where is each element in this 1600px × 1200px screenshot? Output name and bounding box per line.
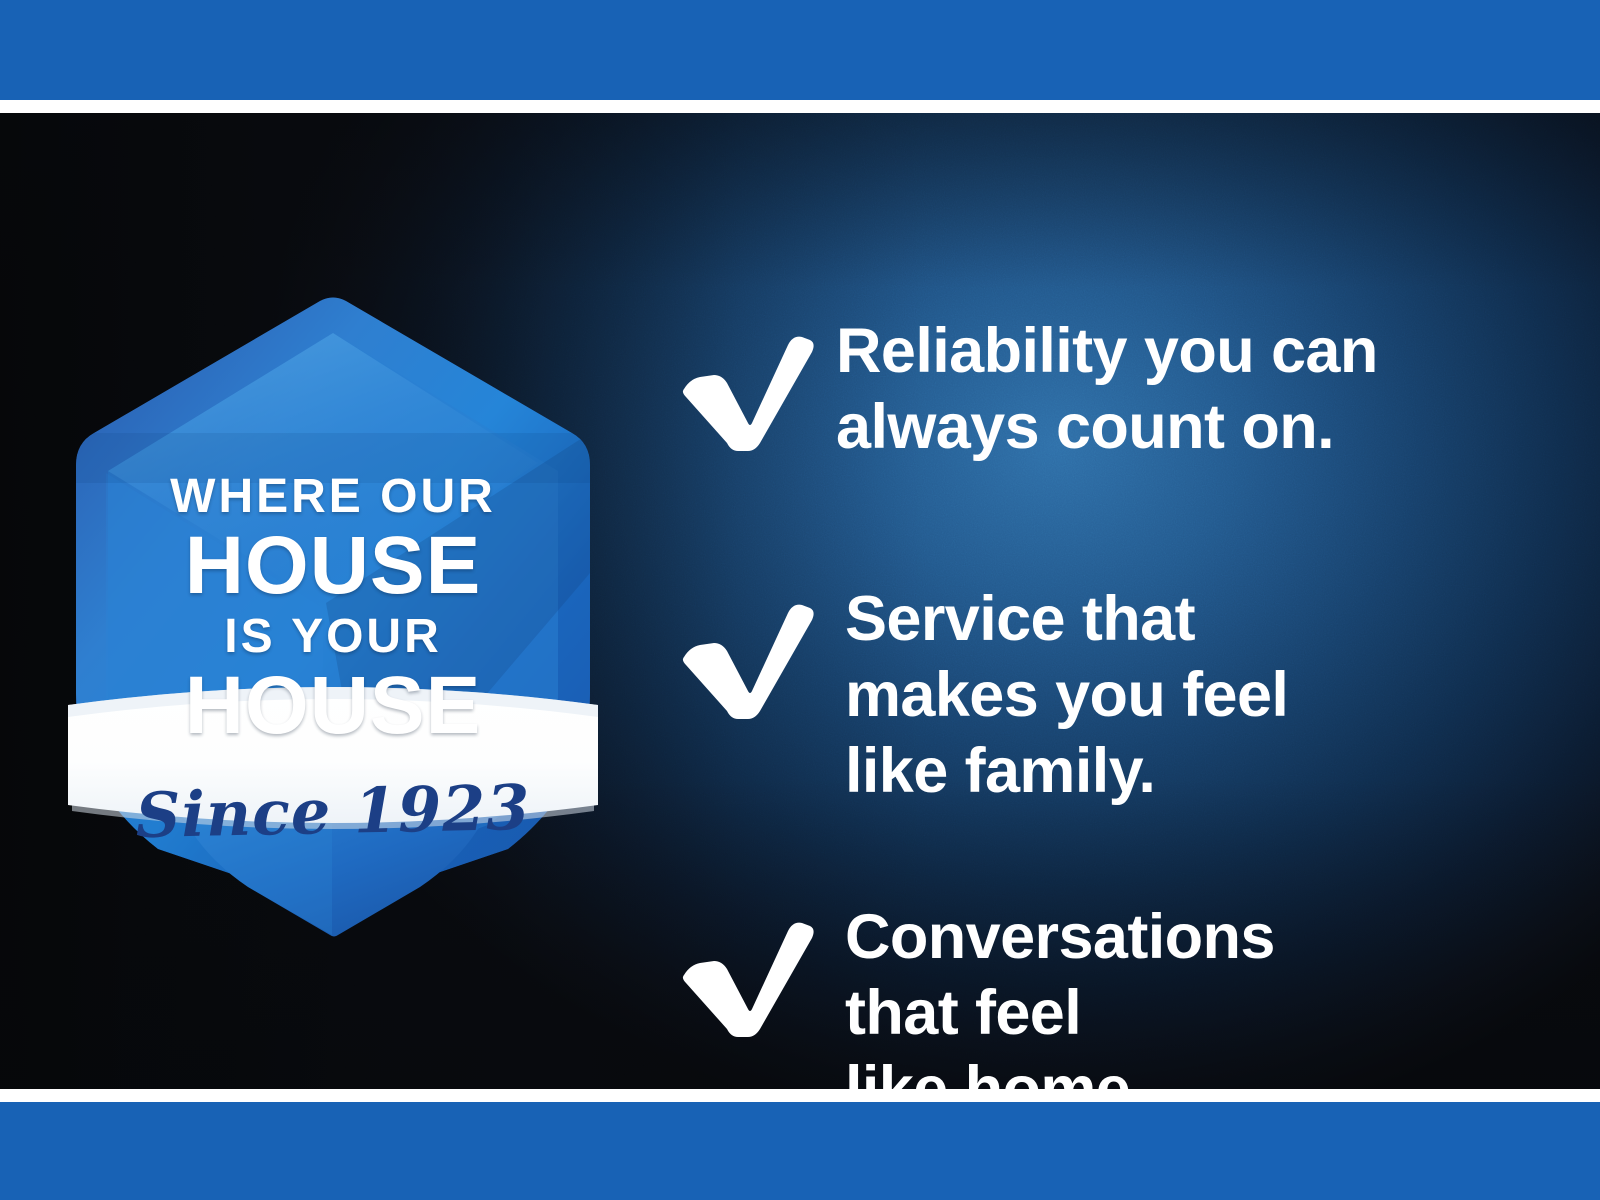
badge-line-2: HOUSE	[68, 525, 598, 607]
top-brand-bar	[0, 0, 1600, 100]
list-item-text: Reliability you can always count on.	[836, 313, 1536, 465]
poster-stage: WHERE OUR HOUSE IS YOUR HOUSE Since 1923…	[0, 113, 1600, 1089]
company-badge: WHERE OUR HOUSE IS YOUR HOUSE Since 1923	[68, 273, 598, 913]
promo-graphic: WHERE OUR HOUSE IS YOUR HOUSE Since 1923…	[0, 0, 1600, 1200]
badge-line-1: WHERE OUR	[68, 473, 598, 521]
bottom-white-strip	[0, 1089, 1600, 1102]
check-icon	[676, 599, 816, 719]
list-item-text: Service that makes you feel like family.	[845, 581, 1545, 810]
badge-ribbon-text: Since 1923	[67, 769, 598, 853]
bottom-brand-bar	[0, 1102, 1600, 1200]
list-item-text: Conversations that feel like home.	[845, 899, 1545, 1089]
check-icon	[676, 331, 816, 451]
check-icon	[676, 917, 816, 1037]
badge-line-3: IS YOUR	[68, 613, 598, 661]
top-white-strip	[0, 100, 1600, 113]
badge-line-4: HOUSE	[68, 665, 598, 747]
